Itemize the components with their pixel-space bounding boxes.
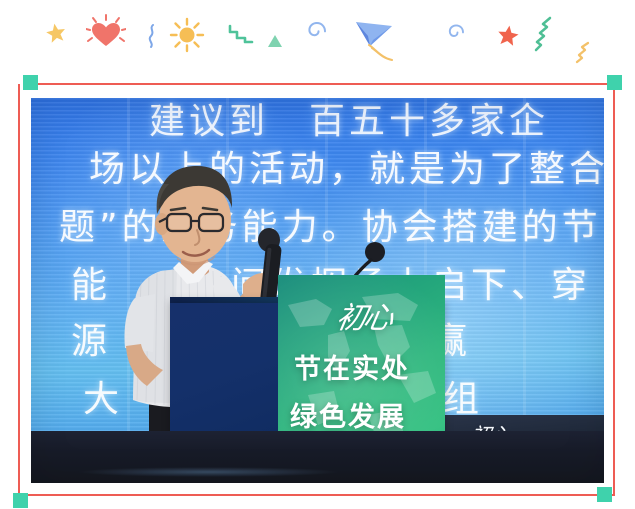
heart-burst-icon [86,14,126,54]
squiggle-icon [146,24,158,48]
spiral-small-icon [444,20,466,42]
frame-corner-bottom-right [597,487,612,502]
podium-script-mark: 初心 [300,293,428,337]
doodle-decoration-band [0,0,635,78]
frame-corner-top-left [23,75,38,90]
podium-slogan-line-1: 节在实处 [294,347,410,386]
paper-plane-icon [352,14,400,62]
conference-speaker-photograph: 建议到 百五十多家企 场以上的活动，就是为了整合 题”的服务能力。协会搭建的节 … [31,98,604,483]
spiral-icon [304,18,328,42]
page-root: 建议到 百五十多家企 场以上的活动，就是为了整合 题”的服务能力。协会搭建的节 … [0,0,635,509]
frame-bottom-rule [19,494,615,496]
sun-icon [168,16,206,54]
star-icon [45,22,67,44]
stage-floor [31,431,604,483]
frame-left-rule [18,84,20,496]
triangle-icon [266,33,284,49]
stage-floor-glow [77,467,341,477]
frame-top-rule [25,83,614,85]
frame-right-rule [613,84,615,496]
wavy-line-yellow-icon [574,40,602,66]
zigzag-icon [228,24,254,44]
wavy-line-green-icon [532,14,568,54]
podium-slogan-line-2: 绿色发展 [290,395,406,434]
frame-corner-top-right [607,75,622,90]
star-red-icon [496,24,520,48]
frame-corner-bottom-left [13,493,28,508]
